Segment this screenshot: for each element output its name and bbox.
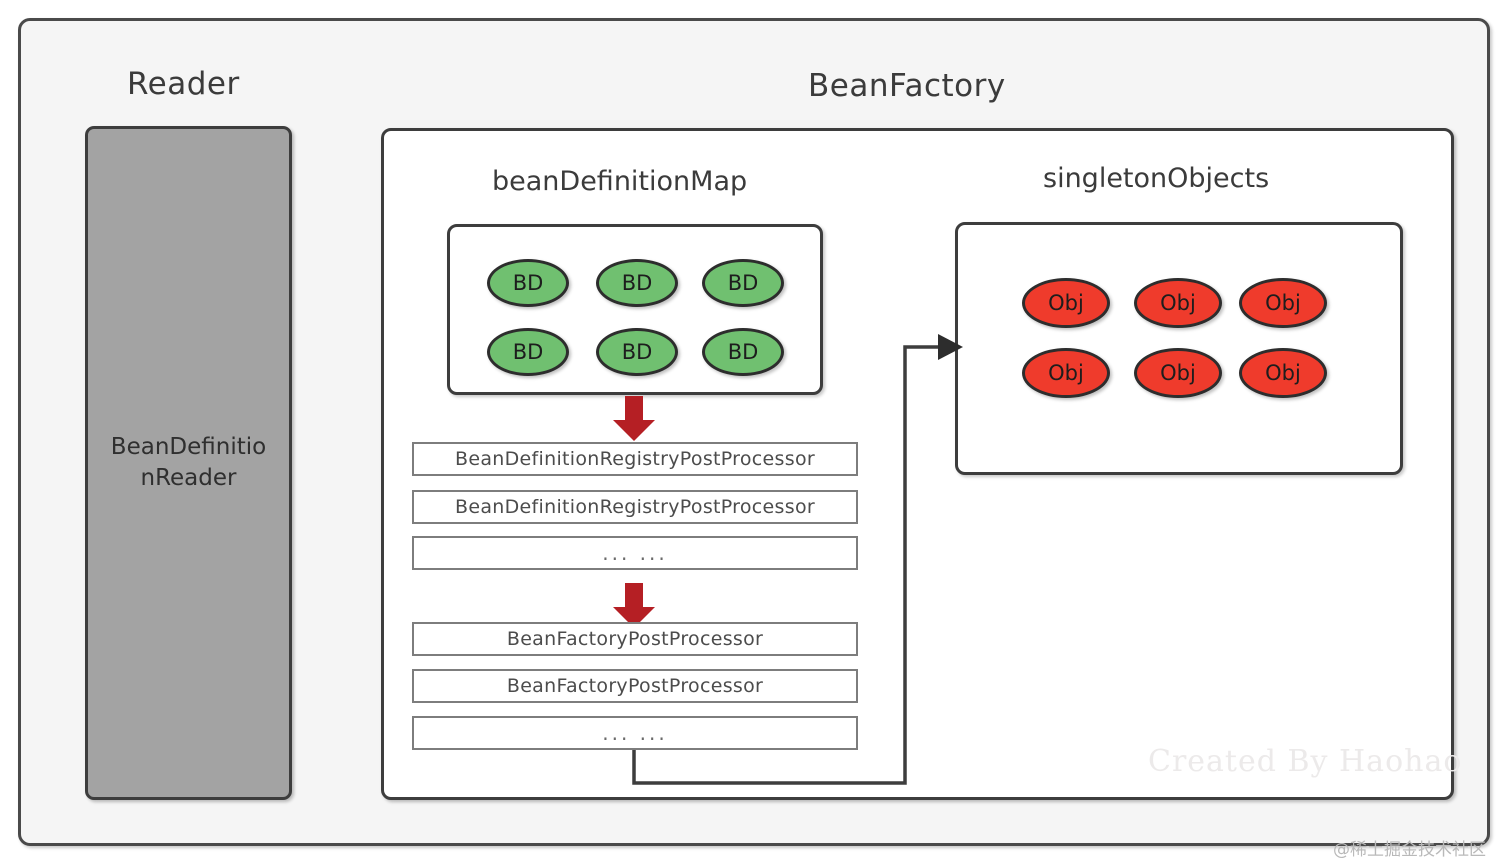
singleton-objects-container: Obj Obj Obj Obj Obj Obj xyxy=(955,222,1403,475)
bean-definition-node: BD xyxy=(487,259,569,307)
bean-definition-node: BD xyxy=(702,328,784,376)
singleton-object-node: Obj xyxy=(1134,278,1222,328)
watermark-created-by: Created By Haohao xyxy=(1148,744,1462,779)
bean-definition-node: BD xyxy=(596,328,678,376)
bean-definition-reader-label: BeanDefinitionReader xyxy=(109,432,269,494)
registry-post-processor-row: BeanDefinitionRegistryPostProcessor xyxy=(412,442,858,476)
watermark-site: @稀土掘金技术社区 xyxy=(1333,835,1486,860)
bean-definition-map-title: beanDefinitionMap xyxy=(492,166,747,197)
page-title-beanfactory: BeanFactory xyxy=(808,68,1006,104)
singleton-object-node: Obj xyxy=(1134,348,1222,398)
singleton-object-node: Obj xyxy=(1239,278,1327,328)
registry-post-processor-row: BeanDefinitionRegistryPostProcessor xyxy=(412,490,858,524)
down-arrow-icon xyxy=(612,396,656,442)
bean-factory-post-processor-row: BeanFactoryPostProcessor xyxy=(412,669,858,703)
bean-definition-node: BD xyxy=(487,328,569,376)
bean-definition-map-container: BD BD BD BD BD BD xyxy=(447,224,823,395)
singleton-objects-title: singletonObjects xyxy=(1043,163,1269,194)
bean-definition-node: BD xyxy=(702,259,784,307)
singleton-object-node: Obj xyxy=(1022,348,1110,398)
registry-post-processor-row-ellipsis: ... ... xyxy=(412,536,858,570)
singleton-object-node: Obj xyxy=(1022,278,1110,328)
bean-definition-reader-box: BeanDefinitionReader xyxy=(85,126,292,800)
page-title-reader: Reader xyxy=(127,66,240,102)
bean-factory-post-processor-row-ellipsis: ... ... xyxy=(412,716,858,750)
singleton-object-node: Obj xyxy=(1239,348,1327,398)
bean-definition-node: BD xyxy=(596,259,678,307)
bean-factory-post-processor-row: BeanFactoryPostProcessor xyxy=(412,622,858,656)
diagram-canvas: Reader BeanFactory BeanDefinitionReader … xyxy=(0,0,1512,866)
